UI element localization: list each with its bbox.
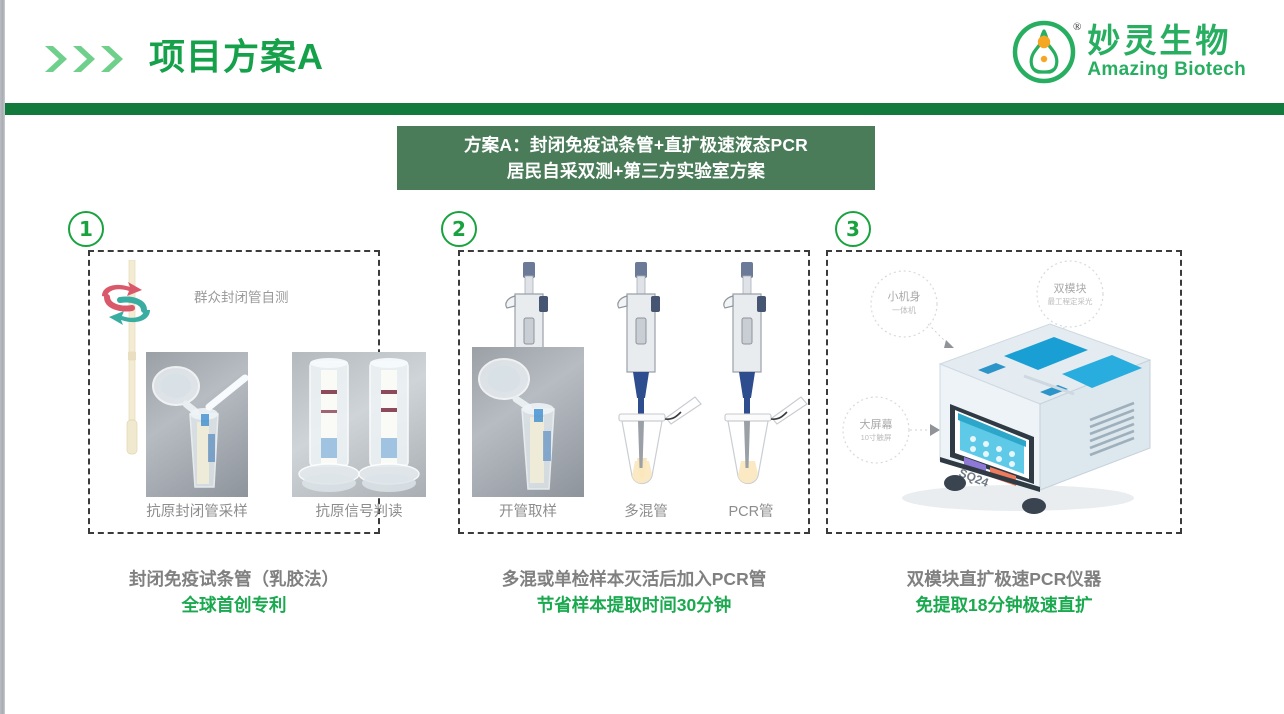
mix-tube-icon	[611, 262, 703, 502]
svg-text:双模块: 双模块	[1054, 282, 1087, 295]
pcr-tube-icon	[717, 262, 809, 502]
svg-text:一体机: 一体机	[892, 305, 916, 315]
svg-text:小机身: 小机身	[888, 289, 921, 303]
sample-tube-photo	[146, 352, 248, 497]
chevron-right-icon-3	[99, 44, 125, 74]
banner-line-1: 方案A：封闭免疫试条管+直扩极速液态PCR	[464, 132, 808, 158]
panel-2-caption-1: 开管取样	[460, 500, 596, 521]
header-divider	[5, 103, 1284, 115]
brand-name-en: Amazing Biotech	[1087, 59, 1246, 81]
slide-header: 项目方案A ® 妙灵生物 Amazing Biotech	[5, 0, 1284, 103]
page-title: 项目方案A	[149, 34, 324, 80]
scheme-banner: 方案A：封闭免疫试条管+直扩极速液态PCR 居民自采双测+第三方实验室方案	[397, 126, 875, 190]
chevron-right-icon-2	[71, 44, 97, 74]
callout-big-screen: 大屏幕 10寸触屏	[843, 397, 940, 463]
panel-2-caption-3: PCR管	[690, 500, 812, 521]
antigen-strip-tubes-photo	[292, 352, 426, 497]
flask-circle-logo-icon: ®	[1011, 19, 1077, 85]
step-panel-3: 小机身 一体机 双模块 最工程定采光 大屏幕 10寸触屏	[826, 250, 1182, 534]
panel-3-note: 双模块直扩极速PCR仪器 免提取18分钟极速直扩	[826, 566, 1182, 618]
panel-1-caption-2: 抗原信号判读	[280, 500, 438, 521]
panel-2-note-line1: 多混或单检样本灭活后加入PCR管	[458, 566, 810, 592]
banner-line-2: 居民自采双测+第三方实验室方案	[507, 158, 765, 184]
panel-1-caption-1: 抗原封闭管采样	[119, 500, 275, 521]
open-tube-photo	[472, 347, 584, 497]
pcr-instrument-photo: 小机身 一体机 双模块 最工程定采光 大屏幕 10寸触屏	[828, 252, 1180, 532]
panel-3-note-line1: 双模块直扩极速PCR仪器	[826, 566, 1182, 592]
brand-name-cn: 妙灵生物	[1087, 23, 1246, 59]
registered-trademark-icon: ®	[1073, 21, 1081, 33]
panel-3-note-line2: 免提取18分钟极速直扩	[826, 592, 1182, 618]
panel-2-note-line2: 节省样本提取时间30分钟	[458, 592, 810, 618]
brand-logo: ® 妙灵生物 Amazing Biotech	[1011, 16, 1246, 88]
callout-small-body: 小机身 一体机	[871, 271, 954, 348]
svg-text:最工程定采光: 最工程定采光	[1048, 296, 1093, 306]
panel-1-note: 封闭免疫试条管（乳胶法） 全球首创专利	[88, 566, 380, 618]
slide-root: 项目方案A ® 妙灵生物 Amazing Biotech 方案A：封闭免疫试条管…	[0, 0, 1284, 714]
chevron-right-icon-1	[43, 44, 69, 74]
step-badge-1: 1	[68, 211, 104, 247]
chevron-triple-right-icon	[43, 44, 125, 74]
panel-2-note: 多混或单检样本灭活后加入PCR管 节省样本提取时间30分钟	[458, 566, 810, 618]
panel-1-note-line2: 全球首创专利	[88, 592, 380, 618]
rotation-arrows-icon	[94, 276, 158, 334]
panel-1-note-line1: 封闭免疫试条管（乳胶法）	[88, 566, 380, 592]
step-panel-2: 开管取样 多混管	[458, 250, 810, 534]
brand-logo-text: 妙灵生物 Amazing Biotech	[1087, 23, 1246, 81]
step-badge-2: 2	[441, 211, 477, 247]
svg-text:大屏幕: 大屏幕	[860, 417, 893, 431]
panel-1-hint: 群众封闭管自测	[194, 286, 289, 306]
step-badge-3: 3	[835, 211, 871, 247]
svg-text:10寸触屏: 10寸触屏	[861, 432, 892, 442]
step-panel-1: 群众封闭管自测 抗原封闭管采样	[88, 250, 380, 534]
